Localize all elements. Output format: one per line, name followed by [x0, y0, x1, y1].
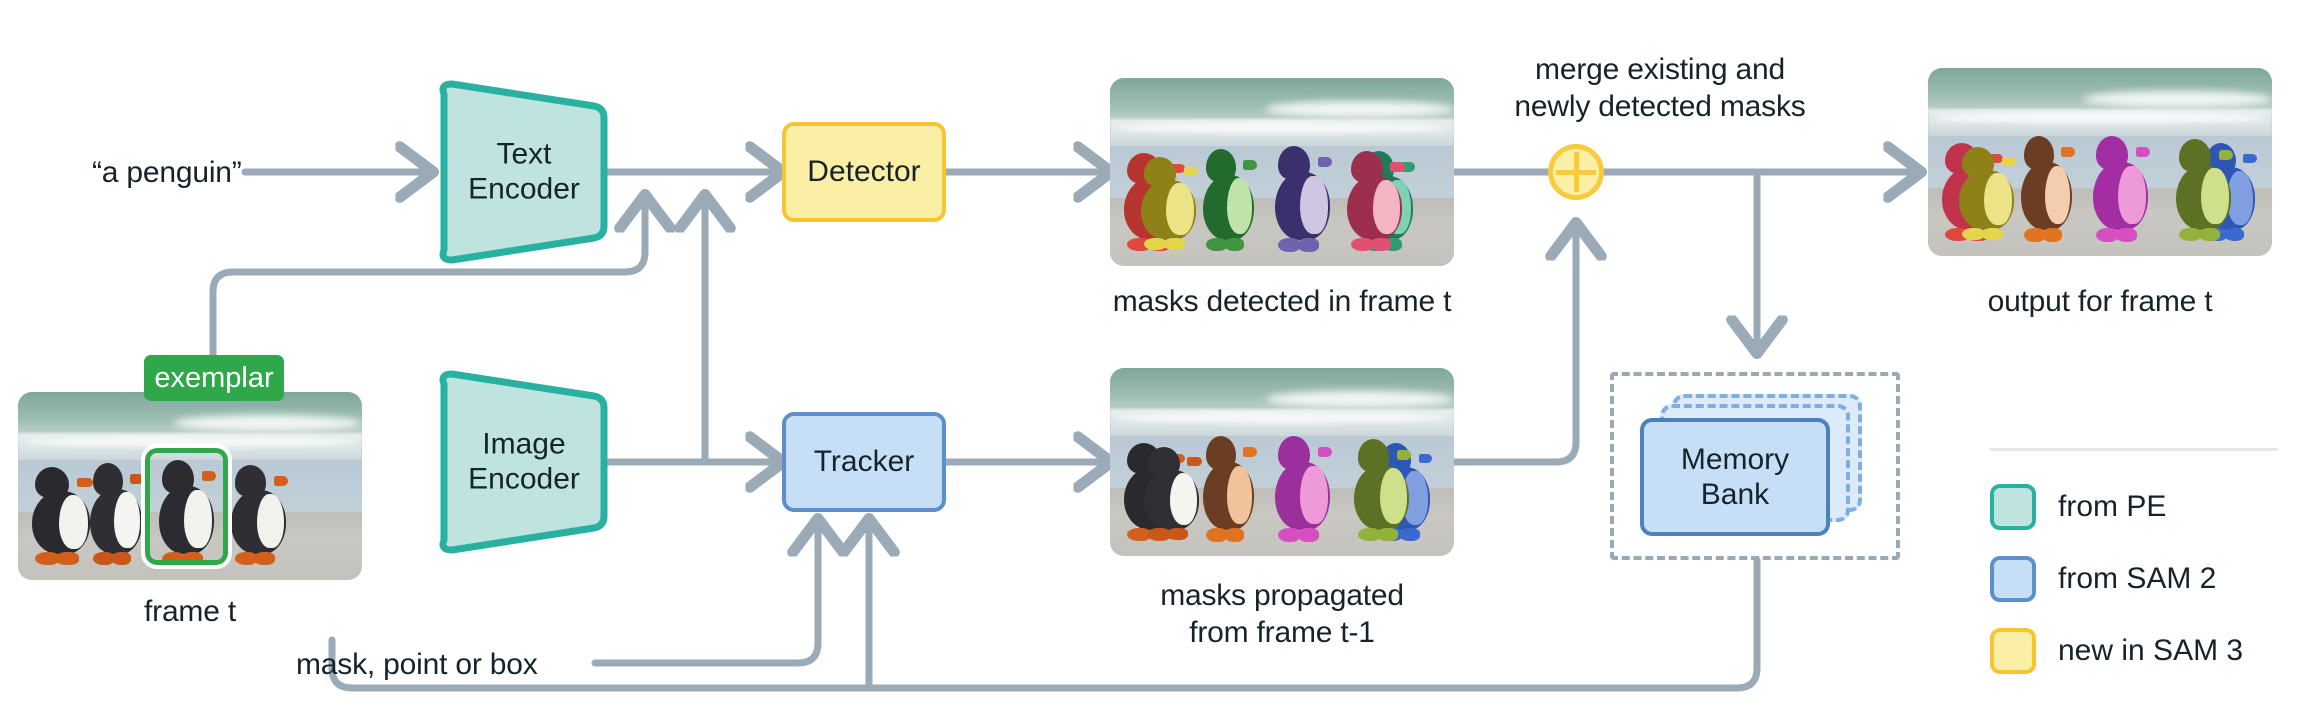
- penguin-belly: [1227, 178, 1253, 234]
- tracker-block[interactable]: Tracker: [782, 412, 946, 512]
- penguin-belly: [2045, 166, 2071, 224]
- penguin-foot: [1163, 238, 1185, 250]
- penguin-mask-magenta: [2093, 136, 2148, 230]
- penguin-foot: [1376, 528, 1398, 542]
- penguin-belly: [1373, 180, 1401, 235]
- penguin-beak: [1318, 157, 1332, 167]
- penguin-foot: [253, 552, 275, 565]
- memory-bank-label-line2: Bank: [1681, 477, 1789, 512]
- penguin-mask-yellow: [1959, 147, 2014, 230]
- penguin-beak: [1390, 162, 1404, 172]
- penguin-mask-brown: [2021, 136, 2073, 230]
- penguin-belly: [59, 495, 88, 549]
- memory-bank-block[interactable]: Memory Bank: [1640, 418, 1830, 536]
- penguin-belly: [1166, 183, 1194, 234]
- penguin-belly: [1300, 176, 1328, 234]
- penguin-beak: [2243, 154, 2256, 164]
- exemplar-bounding-box[interactable]: [145, 448, 228, 565]
- penguin-mask-olive: [1354, 439, 1409, 529]
- legend-divider: [1990, 448, 2278, 451]
- penguin-mask-pink: [1347, 151, 1402, 239]
- text-prompt-label: “a penguin”: [92, 155, 242, 192]
- caption-frame-t: frame t: [40, 594, 340, 631]
- penguin-belly: [1227, 466, 1253, 524]
- penguin-mask-yellow: [1141, 157, 1196, 240]
- penguin-foot: [2224, 228, 2245, 241]
- foam-lower: [25, 437, 355, 446]
- penguin-foot: [1224, 528, 1245, 542]
- legend-label-sam2: from SAM 2: [2058, 562, 2216, 596]
- detector-block[interactable]: Detector: [782, 122, 946, 222]
- caption-masks-propagated: masks propagated from frame t-1: [1052, 578, 1512, 651]
- merge-note-line2: newly detected masks: [1450, 89, 1870, 126]
- penguin-beak: [1243, 447, 1256, 457]
- penguin-4: [231, 465, 286, 553]
- thumbnail-output[interactable]: [1928, 68, 2272, 256]
- penguin-mask-magenta: [1275, 436, 1330, 530]
- legend-swatch-sam2-icon: [1990, 556, 2036, 602]
- penguin-belly: [1380, 468, 1408, 524]
- penguin-beak: [1419, 454, 1432, 464]
- penguin-beak: [2219, 150, 2233, 160]
- legend-item-from-pe: from PE: [1990, 484, 2166, 530]
- tracker-label: Tracker: [814, 444, 915, 479]
- plus-circle-icon: [1548, 144, 1604, 200]
- penguin-mask-olive: [2176, 139, 2231, 229]
- text-encoder-label: Text Encoder: [468, 137, 580, 208]
- scene-frame-t: [18, 392, 362, 580]
- legend-label-sam3: new in SAM 3: [2058, 634, 2243, 668]
- penguin-foot: [1399, 528, 1420, 541]
- penguin-beak: [2136, 147, 2150, 157]
- memory-bank-label-line1: Memory: [1681, 442, 1789, 477]
- penguin-beak: [274, 476, 288, 486]
- scene-output: [1928, 68, 2272, 256]
- legend-label-pe: from PE: [2058, 490, 2166, 524]
- thumbnail-masks-propagated[interactable]: [1110, 368, 1454, 556]
- text-encoder-label-line1: Text: [468, 137, 580, 172]
- penguin-beak: [130, 474, 143, 484]
- scene-masks-propagated: [1110, 368, 1454, 556]
- scene-masks-detected: [1110, 78, 1454, 266]
- caption-masks-propagated-line2: from frame t-1: [1052, 615, 1512, 652]
- diagram-canvas: Text Encoder Image Encoder “a penguin” m…: [0, 0, 2312, 728]
- visual-prompt-label: mask, point or box: [296, 647, 538, 684]
- foam-lower: [1935, 113, 2265, 122]
- penguin-mask-purple: [1275, 146, 1330, 240]
- text-encoder-label-line2: Encoder: [468, 172, 580, 207]
- penguin-belly: [2118, 166, 2146, 224]
- penguin-belly: [1300, 466, 1328, 524]
- exemplar-badge[interactable]: exemplar: [144, 355, 284, 401]
- thumbnail-frame-t[interactable]: [18, 392, 362, 580]
- penguin-beak: [1187, 457, 1201, 466]
- legend-swatch-sam3-icon: [1990, 628, 2036, 674]
- image-encoder-label: Image Encoder: [468, 427, 580, 498]
- detector-label: Detector: [807, 154, 920, 189]
- penguin-belly: [1984, 173, 2012, 224]
- foam-lower: [1117, 413, 1447, 422]
- caption-masks-detected: masks detected in frame t: [1002, 284, 1562, 321]
- penguin-foot: [2115, 228, 2137, 242]
- penguin-foot: [2198, 228, 2220, 242]
- penguin-foot: [1297, 528, 1319, 542]
- penguin-beak: [2002, 157, 2016, 166]
- penguin-foot: [111, 552, 132, 566]
- penguin-foot: [55, 552, 78, 565]
- penguin-beak: [1397, 450, 1411, 460]
- penguin-beak: [2061, 147, 2074, 157]
- penguin-unmasked-2: [1144, 447, 1199, 530]
- legend-item-from-sam2: from SAM 2: [1990, 556, 2216, 602]
- penguin-foot: [1369, 238, 1391, 251]
- penguin-foot: [2042, 228, 2063, 242]
- caption-output: output for frame t: [1870, 284, 2312, 321]
- penguin-mask-green: [1203, 149, 1255, 239]
- penguin-belly: [2227, 171, 2253, 225]
- exemplar-badge-label: exemplar: [154, 362, 273, 395]
- legend-item-new-in-sam3: new in SAM 3: [1990, 628, 2243, 674]
- penguin-2: [90, 463, 142, 553]
- penguin-beak: [1318, 447, 1332, 457]
- legend: from PE from SAM 2 new in SAM 3: [1990, 448, 2290, 668]
- merge-note: merge existing and newly detected masks: [1450, 52, 1870, 125]
- penguin-belly: [257, 494, 285, 549]
- legend-swatch-pe-icon: [1990, 484, 2036, 530]
- merge-note-line1: merge existing and: [1450, 52, 1870, 89]
- penguin-belly: [114, 492, 140, 548]
- penguin-beak: [1243, 160, 1256, 170]
- penguin-beak: [1184, 167, 1198, 176]
- penguin-foot: [1981, 228, 2003, 240]
- image-encoder-label-line1: Image: [468, 427, 580, 462]
- penguin-belly: [2201, 168, 2229, 224]
- caption-masks-propagated-line1: masks propagated: [1052, 578, 1512, 615]
- thumbnail-masks-detected[interactable]: [1110, 78, 1454, 266]
- penguin-foot: [1297, 238, 1319, 252]
- foam-lower: [1117, 123, 1447, 132]
- penguin-foot: [1224, 238, 1245, 252]
- image-encoder-label-line2: Encoder: [468, 462, 580, 497]
- penguin-mask-brown: [1203, 436, 1255, 530]
- penguin-foot: [1166, 528, 1188, 540]
- penguin-belly: [1170, 473, 1198, 524]
- penguin-1: [32, 467, 90, 553]
